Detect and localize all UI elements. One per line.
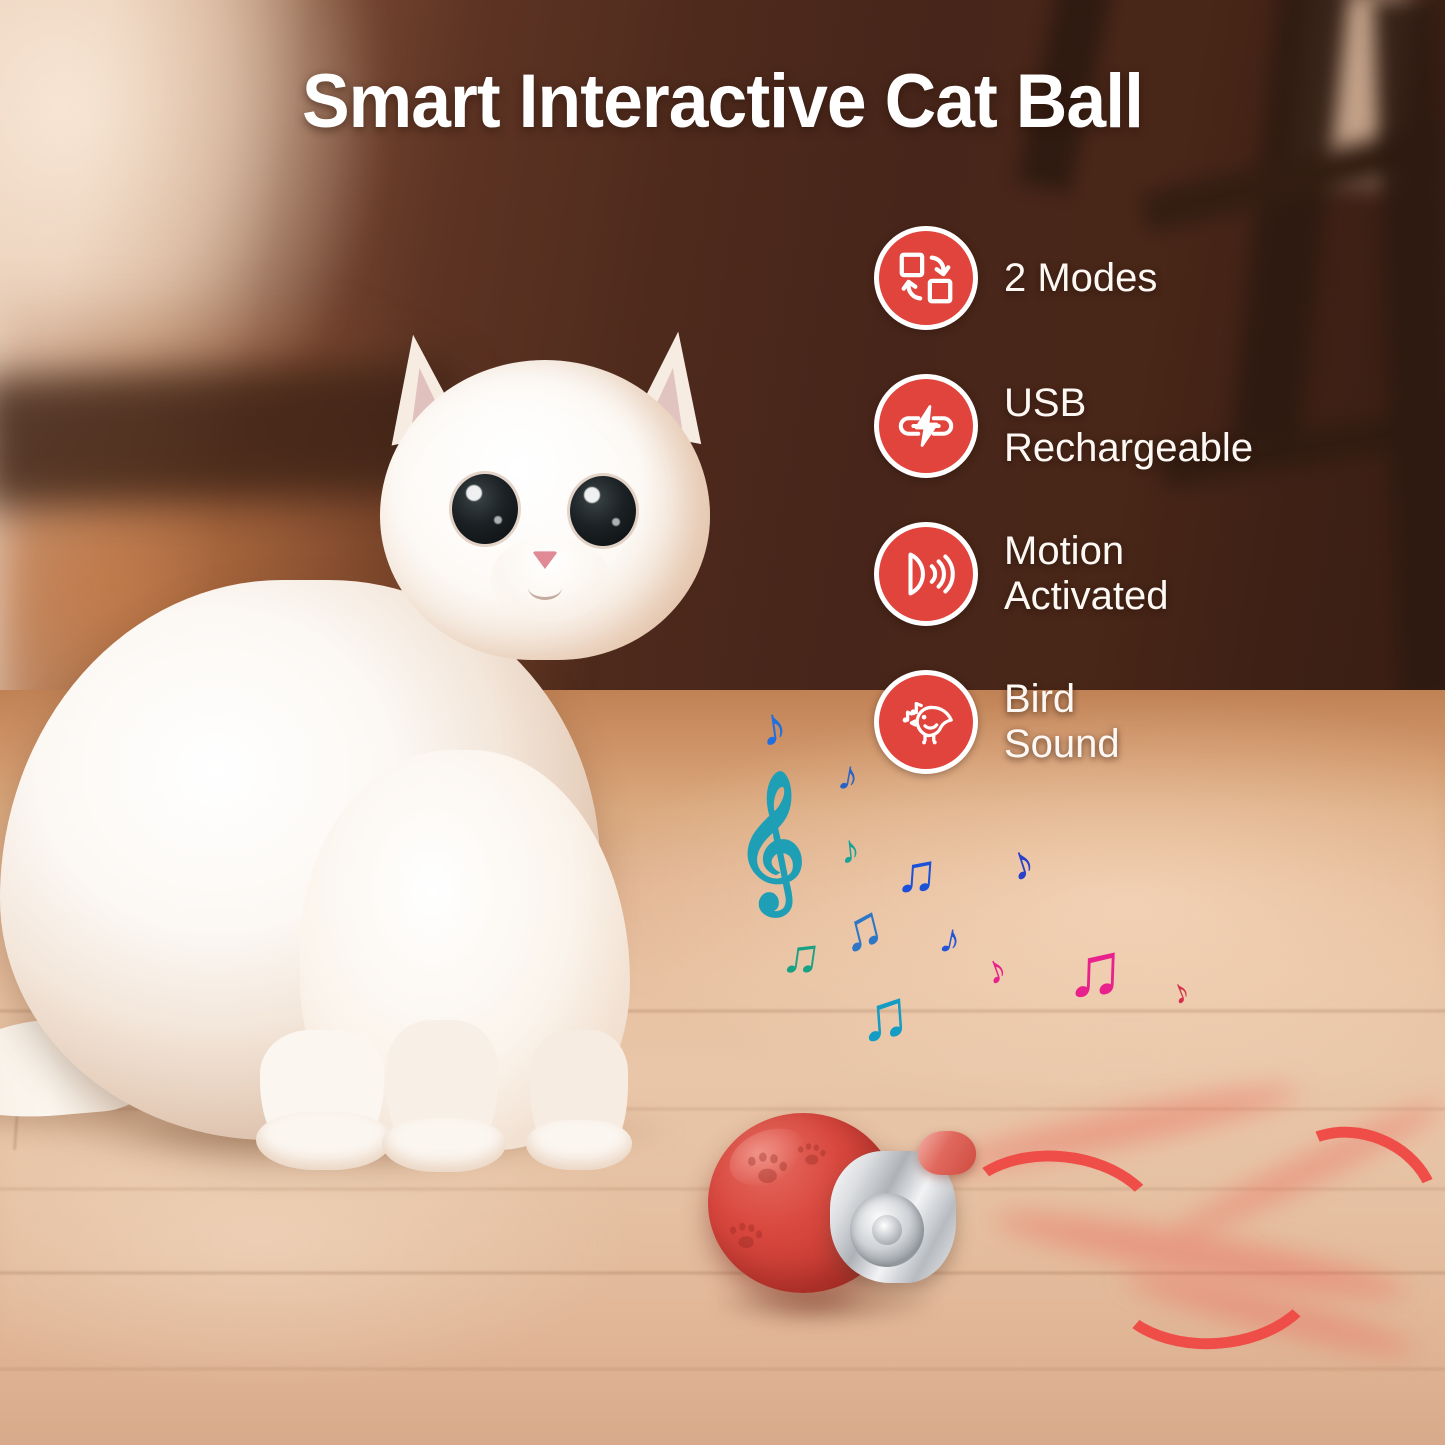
two-squares-swap-icon-wrap <box>874 226 978 330</box>
motion-sensor-wave-icon <box>874 522 978 626</box>
cat-ball-product <box>690 1085 1380 1375</box>
feature-label: USB Rechargeable <box>1004 381 1253 471</box>
cat-paw <box>526 1120 632 1170</box>
feature-label: Bird Sound <box>1004 677 1120 767</box>
feature-item-usb-rechargeable: USB Rechargeable <box>874 364 1304 488</box>
cat-eye-glint <box>612 518 620 526</box>
two-squares-swap-icon <box>874 226 978 330</box>
usb-lightning-icon <box>874 374 978 478</box>
cat-eye-right <box>570 476 636 546</box>
feature-item-motion-activated: Motion Activated <box>874 512 1304 636</box>
cat-mouth <box>528 575 562 600</box>
feature-list: 2 Modes USB Rechargeable <box>874 216 1304 808</box>
page-title: Smart Interactive Cat Ball <box>43 58 1401 145</box>
cat-eye-glint <box>466 485 482 501</box>
product-hero-image: ♪♪𝄞♪♫♫♫♪♫♪♫♪♪ Smart Interactive Cat Ball… <box>0 0 1445 1445</box>
feature-label: 2 Modes <box>1004 256 1157 301</box>
cat <box>0 330 730 1160</box>
bird-music-icon-wrap <box>874 670 978 774</box>
feature-label: Motion Activated <box>1004 529 1169 619</box>
feature-item-2-modes: 2 Modes <box>874 216 1304 340</box>
bird-music-icon <box>874 670 978 774</box>
motion-sensor-wave-icon-wrap <box>874 522 978 626</box>
cat-eye-glint <box>584 487 600 503</box>
feature-item-bird-sound: Bird Sound <box>874 660 1304 784</box>
cat-paw <box>382 1118 506 1172</box>
usb-lightning-icon-wrap <box>874 374 978 478</box>
cat-eye-left <box>452 474 518 544</box>
chrome-hub <box>872 1215 902 1245</box>
cat-eye-glint <box>494 516 502 524</box>
ball-cord <box>952 1145 1382 1315</box>
cat-paw <box>256 1112 392 1170</box>
ball-cord-cap <box>918 1131 976 1175</box>
